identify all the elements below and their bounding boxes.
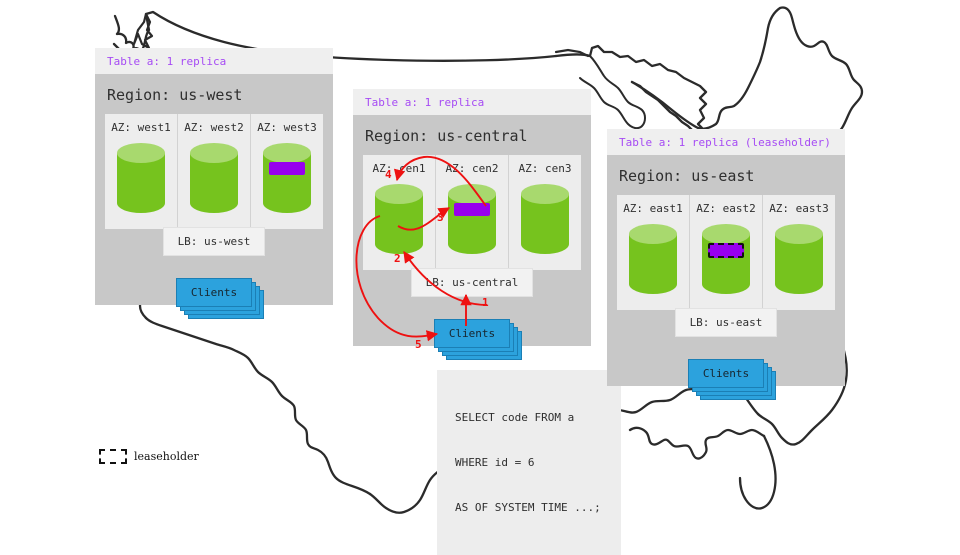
replica-east2-leaseholder[interactable] [708, 243, 744, 258]
clients-box-us-west[interactable]: Clients [176, 278, 252, 307]
az-cen3[interactable]: AZ: cen3 [509, 155, 581, 270]
dashed-rect-icon [99, 449, 127, 464]
replica-west3[interactable] [269, 162, 305, 175]
node-cylinder-cen2[interactable] [447, 183, 497, 255]
az-cen2[interactable]: AZ: cen2 [436, 155, 509, 270]
region-body-us-east: Region: us-east AZ: east1 AZ: east2 [607, 155, 845, 386]
load-balancer-us-central[interactable]: LB: us-central [411, 268, 534, 297]
flow-label-5: 5 [415, 338, 422, 351]
az-east1[interactable]: AZ: east1 [617, 195, 690, 310]
region-badge-us-west: Table a: 1 replica [95, 48, 333, 74]
az-west2[interactable]: AZ: west2 [178, 114, 251, 229]
region-title-us-west: Region: us-west [107, 86, 321, 104]
node-cylinder-west3[interactable] [262, 142, 312, 214]
az-row-us-west: AZ: west1 AZ: west2 [105, 114, 323, 229]
node-cylinder-cen3[interactable] [520, 183, 570, 255]
region-badge-us-east: Table a: 1 replica (leaseholder) [607, 129, 845, 155]
az-label-west3: AZ: west3 [257, 121, 317, 134]
az-label-east1: AZ: east1 [623, 202, 683, 215]
clients-box-us-central[interactable]: Clients [434, 319, 510, 348]
flow-label-2: 2 [394, 252, 401, 265]
replica-cen2[interactable] [454, 203, 490, 216]
sql-line-3: AS OF SYSTEM TIME ...; [455, 500, 607, 515]
az-row-us-east: AZ: east1 AZ: east2 [617, 195, 835, 310]
clients-box-us-east[interactable]: Clients [688, 359, 764, 388]
az-label-cen3: AZ: cen3 [515, 162, 575, 175]
flow-label-1: 1 [482, 296, 489, 309]
az-west1[interactable]: AZ: west1 [105, 114, 178, 229]
region-badge-us-central: Table a: 1 replica [353, 89, 591, 115]
node-cylinder-east1[interactable] [628, 223, 678, 295]
flow-label-4: 4 [385, 168, 392, 181]
load-balancer-us-east[interactable]: LB: us-east [675, 308, 778, 337]
az-label-east2: AZ: east2 [696, 202, 756, 215]
sql-line-2: WHERE id = 6 [455, 455, 607, 470]
region-body-us-central: Region: us-central AZ: cen1 AZ: cen2 [353, 115, 591, 346]
region-body-us-west: Region: us-west AZ: west1 AZ: west2 [95, 74, 333, 305]
az-label-west1: AZ: west1 [111, 121, 171, 134]
region-panel-us-central: Table a: 1 replica Region: us-central AZ… [353, 89, 591, 346]
node-cylinder-east3[interactable] [774, 223, 824, 295]
az-west3[interactable]: AZ: west3 [251, 114, 323, 229]
node-cylinder-west2[interactable] [189, 142, 239, 214]
node-cylinder-west1[interactable] [116, 142, 166, 214]
clients-stack-us-west[interactable]: Clients [176, 278, 252, 307]
node-cylinder-east2[interactable] [701, 223, 751, 295]
az-label-east3: AZ: east3 [769, 202, 829, 215]
az-label-cen1: AZ: cen1 [369, 162, 429, 175]
region-title-us-central: Region: us-central [365, 127, 579, 145]
az-east3[interactable]: AZ: east3 [763, 195, 835, 310]
clients-stack-us-east[interactable]: Clients [688, 359, 764, 388]
region-title-us-east: Region: us-east [619, 167, 833, 185]
region-panel-us-west: Table a: 1 replica Region: us-west AZ: w… [95, 48, 333, 305]
legend-label: leaseholder [134, 450, 199, 463]
region-panel-us-east: Table a: 1 replica (leaseholder) Region:… [607, 129, 845, 386]
az-east2[interactable]: AZ: east2 [690, 195, 763, 310]
az-label-cen2: AZ: cen2 [442, 162, 502, 175]
load-balancer-us-west[interactable]: LB: us-west [163, 227, 266, 256]
legend: leaseholder [99, 449, 199, 464]
az-label-west2: AZ: west2 [184, 121, 244, 134]
clients-stack-us-central[interactable]: Clients [434, 319, 510, 348]
sql-query-box: SELECT code FROM a WHERE id = 6 AS OF SY… [437, 370, 621, 555]
flow-label-3: 3 [437, 211, 444, 224]
sql-line-1: SELECT code FROM a [455, 410, 607, 425]
diagram-canvas: Table a: 1 replica Region: us-west AZ: w… [0, 0, 960, 540]
node-cylinder-cen1[interactable] [374, 183, 424, 255]
